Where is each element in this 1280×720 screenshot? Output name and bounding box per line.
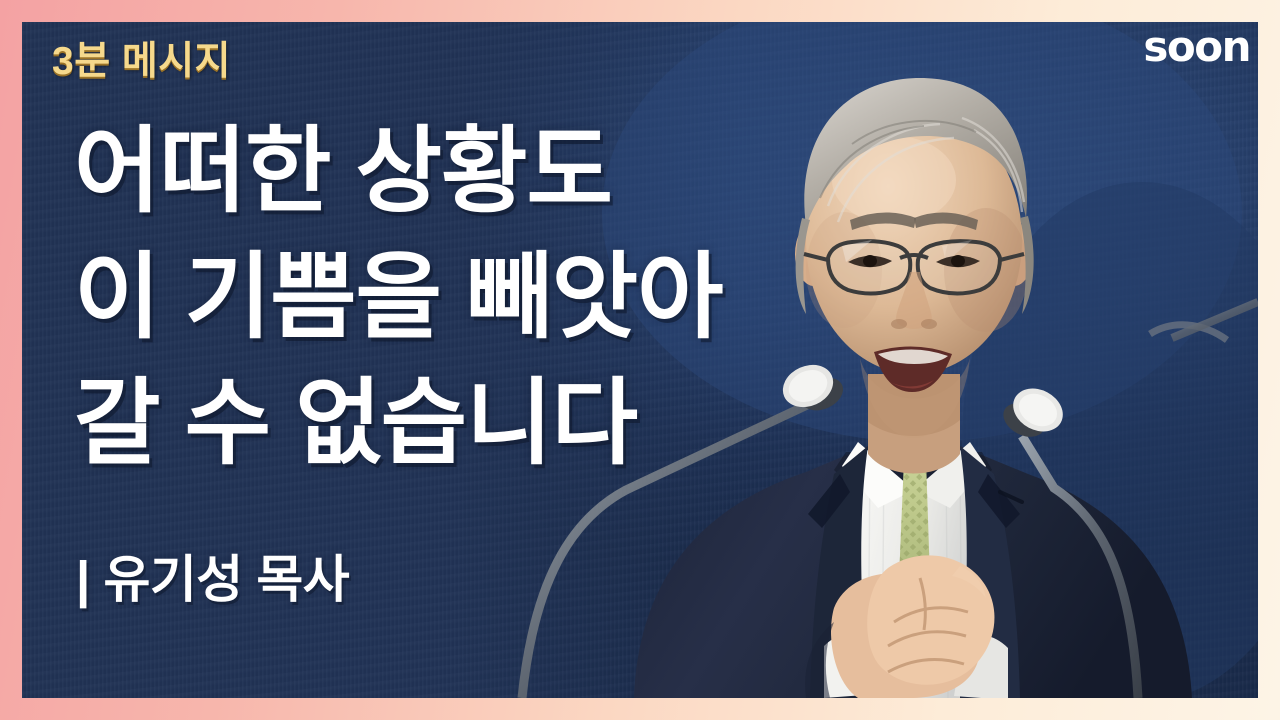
headline-line-1: 어떠한 상황도 [74,108,834,234]
headline-line-3: 갈 수 없습니다 [74,360,834,486]
speaker-credit: | 유기성 목사 [76,538,349,612]
show-title-badge: 3분 메시지 [52,30,231,86]
brand-logo-soon: soon [1143,26,1250,68]
video-frame: 3분 메시지 soon 어떠한 상황도 이 기쁨을 빼앗아 갈 수 없습니다 |… [22,22,1258,698]
headline-line-2: 이 기쁨을 빼앗아 [74,234,834,360]
video-thumbnail: 3분 메시지 soon 어떠한 상황도 이 기쁨을 빼앗아 갈 수 없습니다 |… [0,0,1280,720]
headline-block: 어떠한 상황도 이 기쁨을 빼앗아 갈 수 없습니다 [74,108,834,486]
